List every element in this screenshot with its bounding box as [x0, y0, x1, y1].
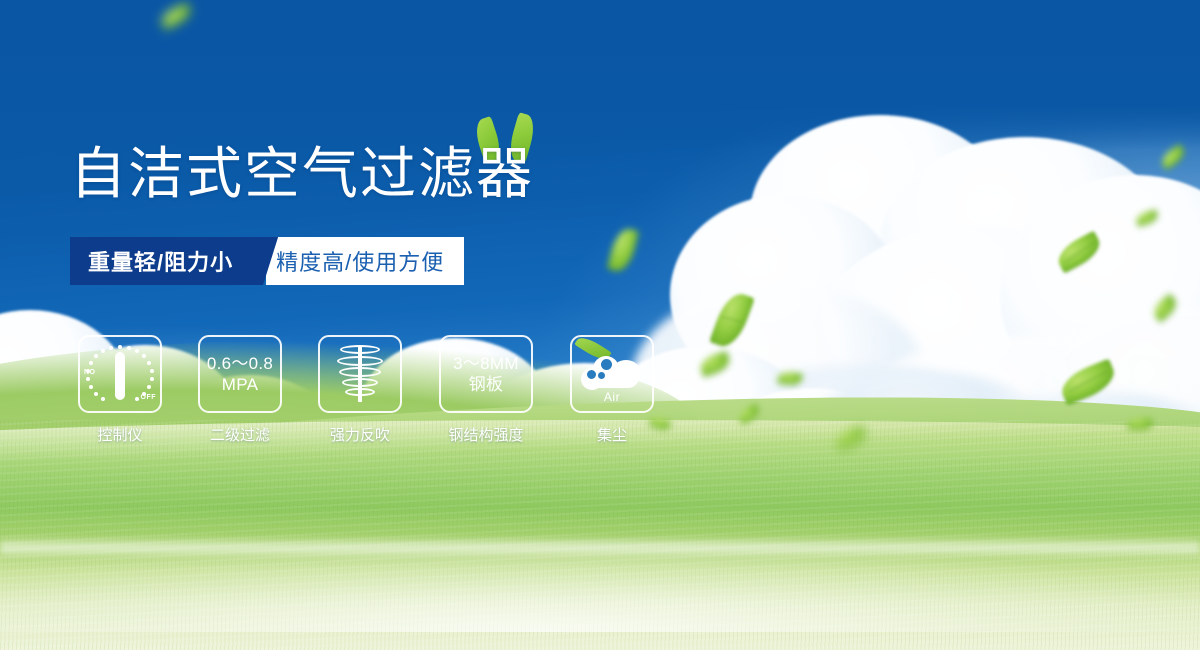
feature-item-blowback[interactable]: 强力反吹 — [318, 335, 402, 445]
feature-item-dust-collection[interactable]: Air 集尘 — [570, 335, 654, 445]
feature-icon-box: Air — [570, 335, 654, 413]
feature-label: 控制仪 — [97, 424, 142, 445]
feature-item-controller[interactable]: NO OFF 控制仪 — [78, 335, 162, 445]
gauge-dial-icon: NO OFF — [85, 343, 155, 405]
feature-label: 强力反吹 — [330, 424, 390, 445]
feature-icon-box: 3～8MM 钢板 — [439, 335, 533, 413]
feature-list: NO OFF 控制仪 0.6～0.8 MPA 二级过滤 — [78, 335, 654, 445]
subtitle-right: 精度高/使用方便 — [266, 237, 464, 285]
pressure-value-icon: 0.6～0.8 MPA — [207, 353, 273, 395]
page-title: 自洁式空气过滤器 — [70, 142, 534, 206]
feature-item-secondary-filter[interactable]: 0.6～0.8 MPA 二级过滤 — [198, 335, 282, 445]
air-label: Air — [579, 390, 645, 404]
feature-label: 钢结构强度 — [448, 424, 523, 445]
gauge-label-no: NO — [84, 369, 96, 376]
feature-label: 集尘 — [597, 424, 627, 445]
feature-icon-box — [318, 335, 402, 413]
steel-plate-value-icon: 3～8MM 钢板 — [453, 353, 519, 395]
spring-coil-icon — [331, 343, 389, 405]
grass-sheen — [0, 482, 1200, 632]
hero-banner: 自洁式空气过滤器 重量轻/阻力小 精度高/使用方便 — [0, 0, 1200, 650]
feature-icon-box: NO OFF — [78, 335, 162, 413]
feature-item-steel-strength[interactable]: 3～8MM 钢板 钢结构强度 — [438, 335, 534, 445]
subtitle-left: 重量轻/阻力小 — [70, 237, 253, 285]
feature-label: 二级过滤 — [210, 424, 270, 445]
subtitle-banner: 重量轻/阻力小 精度高/使用方便 — [70, 237, 464, 285]
gauge-needle — [115, 352, 125, 400]
cloud-air-icon: Air — [579, 346, 645, 402]
gauge-label-off: OFF — [141, 394, 157, 401]
feature-icon-box: 0.6～0.8 MPA — [198, 335, 282, 413]
